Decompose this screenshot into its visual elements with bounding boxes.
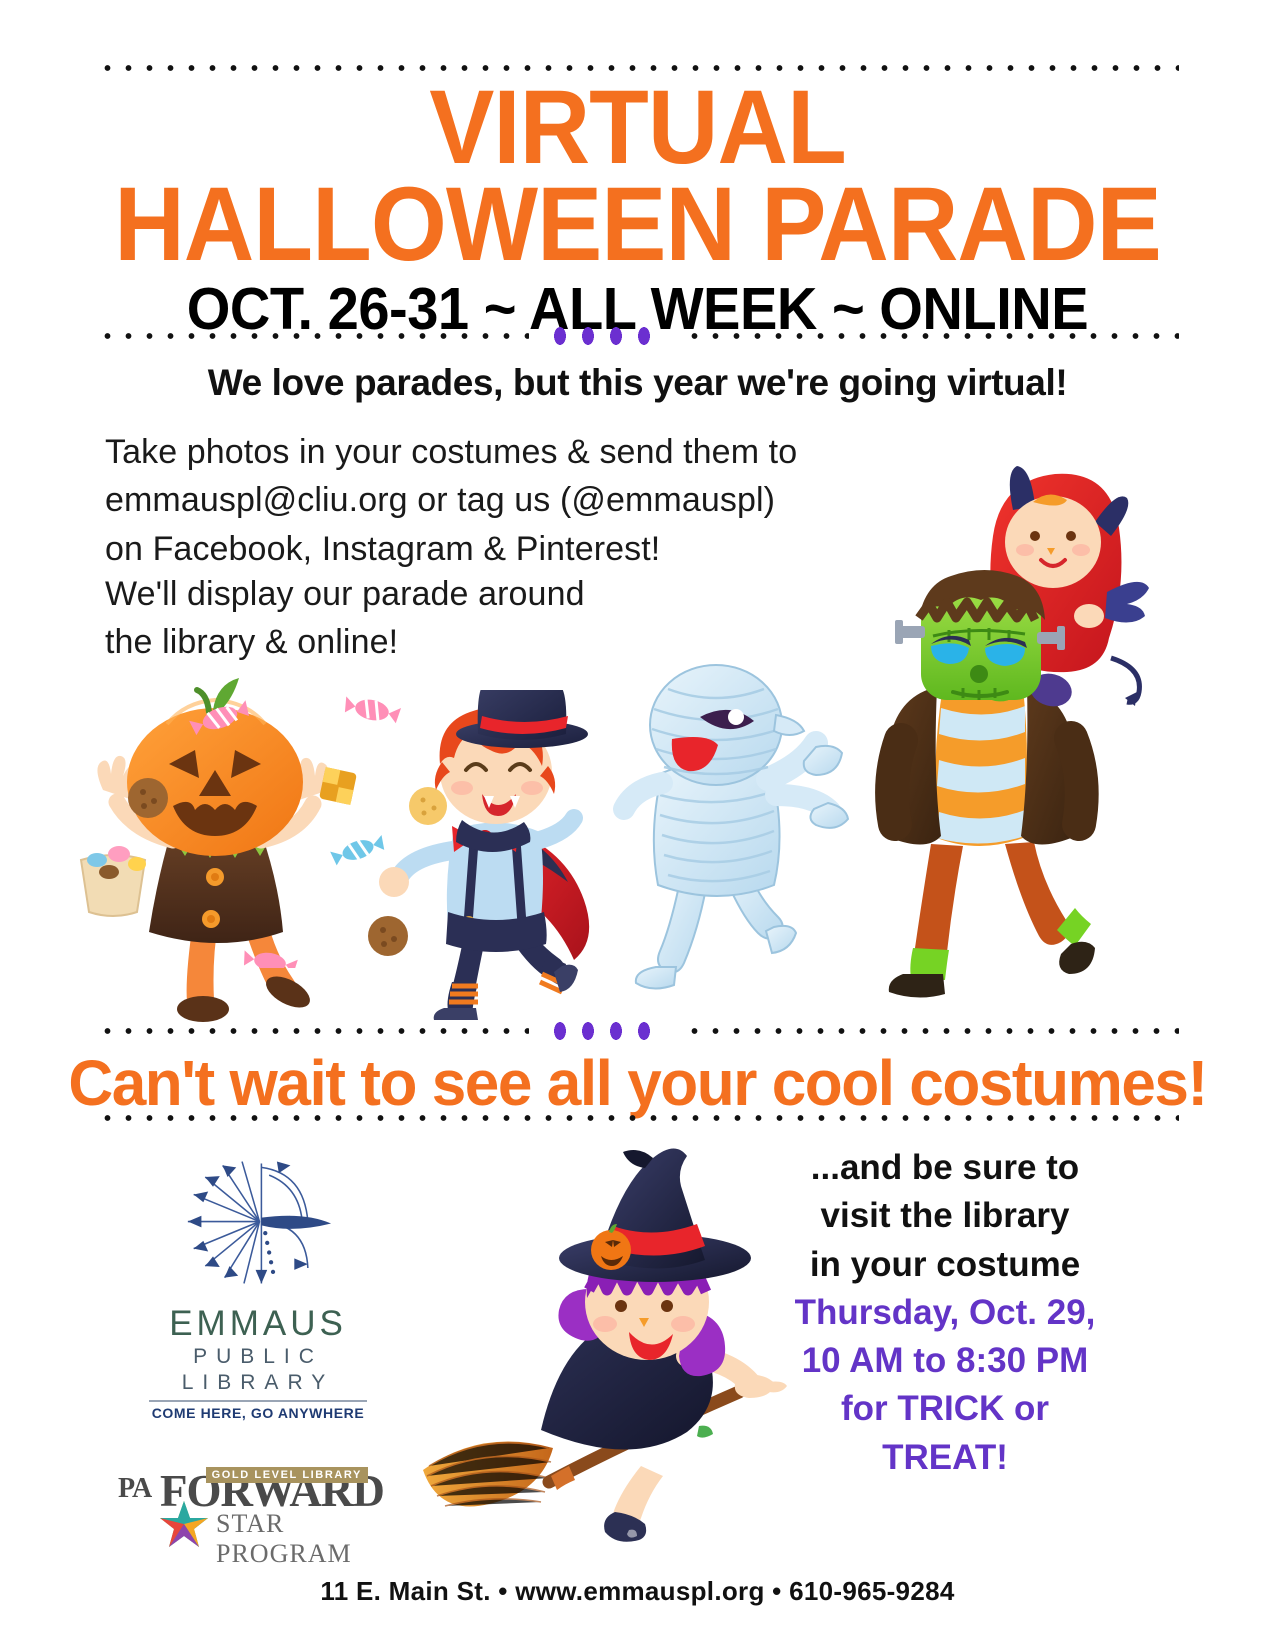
witch-kid-illustration — [393, 1130, 793, 1550]
divider-2-purple-dots — [546, 326, 666, 346]
title-line-1: VIRTUAL — [45, 80, 1231, 177]
divider-4 — [97, 1112, 1179, 1124]
pa-forward-logo: PA FORWARD GOLD LEVEL LIBRARY STAR PROGR… — [118, 1465, 368, 1539]
logo-divider-rule — [149, 1400, 367, 1402]
multicolor-star-icon — [158, 1499, 210, 1549]
visit-line-1: ...and be sure to — [780, 1144, 1110, 1192]
visit-line-2: visit the library — [780, 1192, 1110, 1240]
paragraph-2-line-1: We'll display our parade around — [105, 570, 585, 618]
library-compass-icon — [176, 1148, 341, 1298]
logo-sub-library: LIBRARY — [143, 1370, 373, 1396]
pa-forward-pa: PA — [118, 1473, 151, 1505]
paragraph-1-line-1: Take photos in your costumes & send them… — [105, 428, 797, 476]
divider-3-right — [684, 1025, 1179, 1037]
footer-contact-info: 11 E. Main St. • www.emmauspl.org • 610-… — [0, 1576, 1275, 1607]
visit-line-3: in your costume — [780, 1241, 1110, 1289]
logo-name: EMMAUS — [143, 1304, 373, 1344]
title-line-2: HALLOWEEN PARADE — [45, 177, 1231, 274]
callout-text: Can't wait to see all your cool costumes… — [19, 1046, 1256, 1120]
visit-line-4: Thursday, Oct. 29, — [780, 1289, 1110, 1337]
divider-2-left — [97, 330, 529, 342]
visit-line-5: 10 AM to 8:30 PM — [780, 1337, 1110, 1385]
star-program-text: STAR PROGRAM — [216, 1509, 368, 1569]
frankenstein-kid-illustration — [845, 440, 1155, 1030]
tagline: We love parades, but this year we're goi… — [0, 362, 1275, 404]
paragraph-2-line-2: the library & online! — [105, 618, 585, 666]
logo-sub-public: PUBLIC — [143, 1344, 373, 1370]
paragraph-1: Take photos in your costumes & send them… — [105, 428, 797, 573]
paragraph-1-line-2: emmauspl@cliu.org or tag us (@emmauspl) — [105, 476, 797, 524]
paragraph-2: We'll display our parade around the libr… — [105, 570, 585, 667]
mummy-kid-illustration — [590, 655, 850, 1025]
gold-level-banner: GOLD LEVEL LIBRARY — [206, 1467, 368, 1483]
pa-forward-star-row: STAR PROGRAM — [118, 1509, 368, 1539]
visit-library-text: ...and be sure to visit the library in y… — [780, 1144, 1110, 1482]
visit-line-6: for TRICK or TREAT! — [780, 1385, 1110, 1482]
divider-3-left — [97, 1025, 529, 1037]
paragraph-1-line-3: on Facebook, Instagram & Pinterest! — [105, 525, 797, 573]
page-title: VIRTUAL HALLOWEEN PARADE OCT. 26-31 ~ AL… — [0, 80, 1275, 341]
emmaus-library-logo: EMMAUS PUBLIC LIBRARY COME HERE, GO ANYW… — [143, 1148, 373, 1421]
flyer-page: VIRTUAL HALLOWEEN PARADE OCT. 26-31 ~ AL… — [0, 0, 1275, 1650]
vampire-kid-illustration — [370, 690, 620, 1020]
pa-forward-wordmark: PA FORWARD GOLD LEVEL LIBRARY — [118, 1465, 368, 1509]
divider-3-purple-dots — [546, 1021, 666, 1041]
divider-2-right — [684, 330, 1179, 342]
logo-tagline: COME HERE, GO ANYWHERE — [143, 1405, 373, 1421]
